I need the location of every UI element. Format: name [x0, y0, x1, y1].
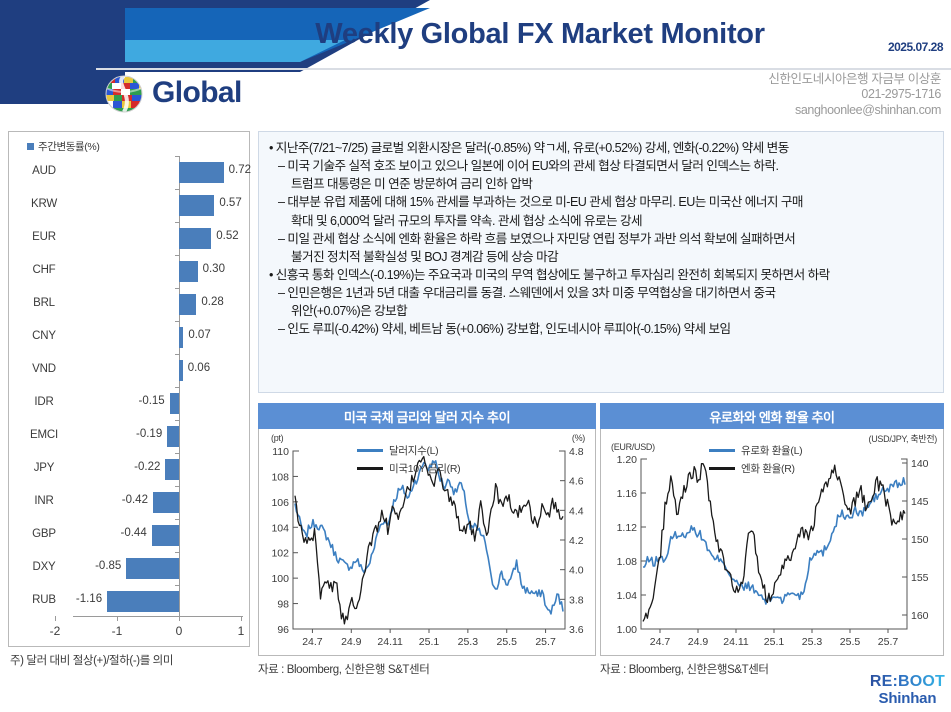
- bar-axis-tickmark: [175, 255, 179, 256]
- svg-text:25.3: 25.3: [458, 636, 479, 648]
- bar-value-label: 0.57: [219, 197, 241, 209]
- svg-text:1.00: 1.00: [617, 624, 638, 636]
- eurjpy-chart-body: (EUR/USD) (USD/JPY, 축반전) 유로화 환율(L) 엔화 환율…: [600, 429, 944, 656]
- bar-chart-row: INR-0.42: [9, 486, 249, 519]
- bar-category-label: JPY: [15, 462, 73, 474]
- bar-axis-tickmark: [175, 354, 179, 355]
- header-divider: [96, 68, 951, 70]
- bar-category-label: DXY: [15, 561, 73, 573]
- x-axis-tick-label: -1: [105, 624, 129, 638]
- eur-jpy-panel: 유로화와 엔화 환율 추이 (EUR/USD) (USD/JPY, 축반전) 유…: [600, 403, 944, 677]
- source-ust: 자료 : Bloomberg, 신한은행 S&T센터: [258, 661, 596, 677]
- bar-chart-note: 주) 달러 대비 절상(+)/절하(-)를 의미: [10, 652, 173, 668]
- bar-axis-tickmark: [175, 420, 179, 421]
- legend-label-eur: 유로화 환율(L): [741, 443, 802, 458]
- bar-segment: [179, 195, 214, 216]
- bar-chart-row: BRL0.28: [9, 288, 249, 321]
- right-axis-unit-ust: (%): [572, 434, 585, 443]
- svg-text:4.8: 4.8: [569, 446, 584, 458]
- bar-chart-row: AUD0.72: [9, 156, 249, 189]
- bar-chart-legend: 주간변동률(%): [27, 139, 99, 154]
- svg-text:25.3: 25.3: [802, 636, 823, 648]
- commentary-line: – 인민은행은 1년과 5년 대출 우대금리를 동결. 스웨덴에서 있을 3차 …: [269, 284, 935, 302]
- bar-segment: [179, 360, 183, 381]
- x-axis-tick: [55, 616, 56, 621]
- svg-text:25.1: 25.1: [764, 636, 785, 648]
- legend-line-icon: [357, 449, 383, 452]
- bar-segment: [165, 459, 179, 480]
- svg-text:25.1: 25.1: [419, 636, 440, 648]
- page-header: Weekly Global FX Market Monitor 2025.07.…: [0, 0, 951, 122]
- svg-text:4.2: 4.2: [569, 535, 584, 547]
- bar-axis-tickmark: [175, 321, 179, 322]
- bar-category-label: INR: [15, 495, 73, 507]
- bar-category-label: EMCI: [15, 429, 73, 441]
- legend-label-jpy: 엔화 환율(R): [741, 461, 795, 476]
- bar-value-label: -0.15: [138, 395, 164, 407]
- bar-value-label: 0.07: [188, 329, 210, 341]
- bar-value-label: 0.72: [229, 164, 251, 176]
- commentary-line: – 인도 루피(-0.42%) 약세, 베트남 동(+0.06%) 강보합, 인…: [269, 320, 935, 338]
- bar-category-label: RUB: [15, 594, 73, 606]
- bar-value-label: -0.44: [121, 527, 147, 539]
- ust-chart-body: (pt) (%) 달러지수(L) 미국10Y 금리(R) 11010810610…: [258, 429, 596, 656]
- svg-text:4.4: 4.4: [569, 505, 584, 517]
- bar-segment: [179, 327, 183, 348]
- bar-segment: [153, 492, 179, 513]
- svg-text:1.12: 1.12: [617, 522, 638, 534]
- bar-category-label: AUD: [15, 165, 73, 177]
- commentary-line: • 신흥국 통화 인덱스(-0.19%)는 주요국과 미국의 무역 협상에도 불…: [269, 266, 935, 284]
- bar-category-label: GBP: [15, 528, 73, 540]
- svg-text:25.7: 25.7: [535, 636, 556, 648]
- svg-text:24.11: 24.11: [723, 636, 749, 648]
- legend-label-dollar-index: 달러지수(L): [389, 443, 438, 458]
- bar-axis-tickmark: [175, 222, 179, 223]
- commentary-line: 위안(+0.07%)은 강보합: [269, 302, 935, 320]
- x-axis-tick-label: 1: [229, 624, 253, 638]
- bar-segment: [167, 426, 179, 447]
- legend-row-dollar-index: 달러지수(L): [357, 443, 438, 458]
- svg-text:108: 108: [271, 471, 289, 483]
- bar-value-label: -0.19: [136, 428, 162, 440]
- contact-phone: 021-2975-1716: [768, 87, 941, 102]
- bar-chart-row: IDR-0.15: [9, 387, 249, 420]
- svg-text:145: 145: [911, 496, 929, 508]
- bar-chart-row: RUB-1.16: [9, 585, 249, 618]
- bar-category-label: BRL: [15, 297, 73, 309]
- bar-value-label: -0.22: [134, 461, 160, 473]
- bar-value-label: -0.85: [95, 560, 121, 572]
- contact-author: 신한인도네시아은행 자금부 이상훈: [768, 72, 941, 87]
- bar-category-label: IDR: [15, 396, 73, 408]
- bar-segment: [179, 228, 211, 249]
- bar-chart-row: CNY0.07: [9, 321, 249, 354]
- commentary-line: – 미국 기술주 실적 호조 보이고 있으나 일본에 이어 EU와의 관세 협상…: [269, 157, 935, 175]
- bar-segment: [152, 525, 179, 546]
- x-axis-tick: [179, 616, 180, 621]
- panel-title-eurjpy: 유로화와 엔화 환율 추이: [600, 403, 944, 429]
- bar-chart-row: KRW0.57: [9, 189, 249, 222]
- logo-shinhan-text: Shinhan: [870, 691, 945, 706]
- svg-text:1.04: 1.04: [617, 590, 638, 602]
- legend-label-ust10y: 미국10Y 금리(R): [389, 461, 460, 476]
- bar-value-label: -0.42: [122, 494, 148, 506]
- bar-axis-tickmark: [175, 486, 179, 487]
- bar-axis-tickmark: [175, 288, 179, 289]
- svg-text:140: 140: [911, 458, 929, 470]
- svg-text:25.7: 25.7: [878, 636, 899, 648]
- bar-chart-row: JPY-0.22: [9, 453, 249, 486]
- svg-text:25.5: 25.5: [496, 636, 517, 648]
- commentary-line: 확대 및 6,000억 달러 규모의 투자를 약속. 관세 협상 소식에 유로는…: [269, 212, 935, 230]
- bar-axis-tickmark: [175, 552, 179, 553]
- x-axis-tick: [241, 616, 242, 621]
- bar-segment: [107, 591, 179, 612]
- legend-line-icon: [709, 467, 735, 470]
- svg-text:110: 110: [272, 446, 289, 458]
- contact-block: 신한인도네시아은행 자금부 이상훈 021-2975-1716 sanghoon…: [768, 72, 941, 118]
- svg-text:1.20: 1.20: [617, 454, 638, 466]
- svg-text:104: 104: [271, 522, 289, 534]
- bar-value-label: -1.16: [76, 593, 102, 605]
- contact-email: sanghoonlee@shinhan.com: [768, 103, 941, 118]
- svg-text:4.6: 4.6: [569, 476, 584, 488]
- ust-yield-dollar-panel: 미국 국채 금리와 달러 지수 추이 (pt) (%) 달러지수(L) 미국10…: [258, 403, 596, 677]
- page-title: Weekly Global FX Market Monitor: [270, 18, 810, 51]
- bar-category-label: KRW: [15, 198, 73, 210]
- commentary-line: 트럼프 대통령은 미 연준 방문하여 금리 인하 압박: [269, 175, 935, 193]
- weekly-change-bar-chart: 주간변동률(%) AUD0.72KRW0.57EUR0.52CHF0.30BRL…: [8, 131, 250, 647]
- svg-text:106: 106: [271, 497, 289, 509]
- svg-text:3.6: 3.6: [569, 624, 584, 636]
- x-axis-tick-label: 0: [167, 624, 191, 638]
- legend-row-ust10y: 미국10Y 금리(R): [357, 461, 460, 476]
- bar-chart-row: VND0.06: [9, 354, 249, 387]
- globe-flags-icon: [104, 74, 144, 114]
- svg-text:96: 96: [277, 624, 289, 636]
- svg-text:102: 102: [271, 548, 289, 560]
- svg-text:1.08: 1.08: [617, 556, 638, 568]
- bar-category-label: EUR: [15, 231, 73, 243]
- svg-text:24.9: 24.9: [688, 636, 709, 648]
- bar-segment: [179, 294, 196, 315]
- brand-label: Global: [152, 76, 242, 110]
- left-axis-unit-eurjpy: (EUR/USD): [611, 443, 655, 452]
- bar-value-label: 0.30: [203, 263, 225, 275]
- bar-axis-tickmark: [175, 519, 179, 520]
- legend-line-icon: [709, 449, 735, 452]
- bar-segment: [179, 261, 198, 282]
- bar-chart-row: EUR0.52: [9, 222, 249, 255]
- commentary-line: 불거진 정치적 불확실성 및 BOJ 경계감 등에 상승 마감: [269, 248, 935, 266]
- bar-axis-tickmark: [175, 189, 179, 190]
- legend-swatch-icon: [27, 143, 34, 150]
- bar-value-label: 0.52: [216, 230, 238, 242]
- legend-label: 주간변동률(%): [38, 139, 99, 154]
- svg-text:155: 155: [911, 572, 929, 584]
- svg-text:98: 98: [277, 599, 289, 611]
- legend-row-eur: 유로화 환율(L): [709, 443, 802, 458]
- commentary-line: – 미일 관세 협상 소식에 엔화 환율은 하락 흐름 보였으나 자민당 연립 …: [269, 230, 935, 248]
- bar-segment: [126, 558, 179, 579]
- svg-text:24.11: 24.11: [377, 636, 403, 648]
- svg-text:24.7: 24.7: [650, 636, 671, 648]
- bar-axis-tickmark: [175, 387, 179, 388]
- svg-text:24.9: 24.9: [341, 636, 362, 648]
- bar-category-label: CHF: [15, 264, 73, 276]
- legend-line-icon: [357, 467, 383, 470]
- x-axis-tick: [117, 616, 118, 621]
- svg-text:4.0: 4.0: [569, 565, 584, 577]
- bar-value-label: 0.28: [201, 296, 223, 308]
- bar-segment: [179, 162, 224, 183]
- svg-text:1.16: 1.16: [617, 488, 638, 500]
- panel-title-ust: 미국 국채 금리와 달러 지수 추이: [258, 403, 596, 429]
- bar-segment: [170, 393, 179, 414]
- commentary-line: – 대부분 유럽 제품에 대해 15% 관세를 부과하는 것으로 미-EU 관세…: [269, 193, 935, 211]
- svg-text:3.8: 3.8: [569, 594, 584, 606]
- legend-row-jpy: 엔화 환율(R): [709, 461, 795, 476]
- x-axis-tick-label: -2: [43, 624, 67, 638]
- bar-chart-plot-area: AUD0.72KRW0.57EUR0.52CHF0.30BRL0.28CNY0.…: [9, 156, 249, 616]
- left-axis-unit-ust: (pt): [271, 434, 283, 443]
- bar-axis-tickmark: [175, 453, 179, 454]
- svg-text:25.5: 25.5: [840, 636, 861, 648]
- svg-text:100: 100: [271, 573, 289, 585]
- bar-axis-tickmark: [175, 156, 179, 157]
- bar-chart-row: EMCI-0.19: [9, 420, 249, 453]
- logo-reboot-text: RE:BOOT: [870, 674, 945, 690]
- bar-chart-x-axis: [73, 616, 243, 617]
- bar-category-label: VND: [15, 363, 73, 375]
- market-commentary-panel: • 지난주(7/21~7/25) 글로벌 외환시장은 달러(-0.85%) 약ㄱ…: [258, 131, 944, 393]
- bar-category-label: CNY: [15, 330, 73, 342]
- bar-chart-row: DXY-0.85: [9, 552, 249, 585]
- right-axis-unit-eurjpy: (USD/JPY, 축반전): [865, 435, 937, 444]
- bar-chart-row: GBP-0.44: [9, 519, 249, 552]
- reboot-shinhan-logo: RE:BOOT Shinhan: [870, 674, 945, 706]
- svg-text:24.7: 24.7: [302, 636, 323, 648]
- svg-text:150: 150: [911, 534, 929, 546]
- bar-axis-tickmark: [175, 585, 179, 586]
- report-date: 2025.07.28: [888, 40, 943, 54]
- bar-value-label: 0.06: [188, 362, 210, 374]
- commentary-line: • 지난주(7/21~7/25) 글로벌 외환시장은 달러(-0.85%) 약ㄱ…: [269, 139, 935, 157]
- bar-chart-row: CHF0.30: [9, 255, 249, 288]
- svg-text:160: 160: [911, 610, 929, 622]
